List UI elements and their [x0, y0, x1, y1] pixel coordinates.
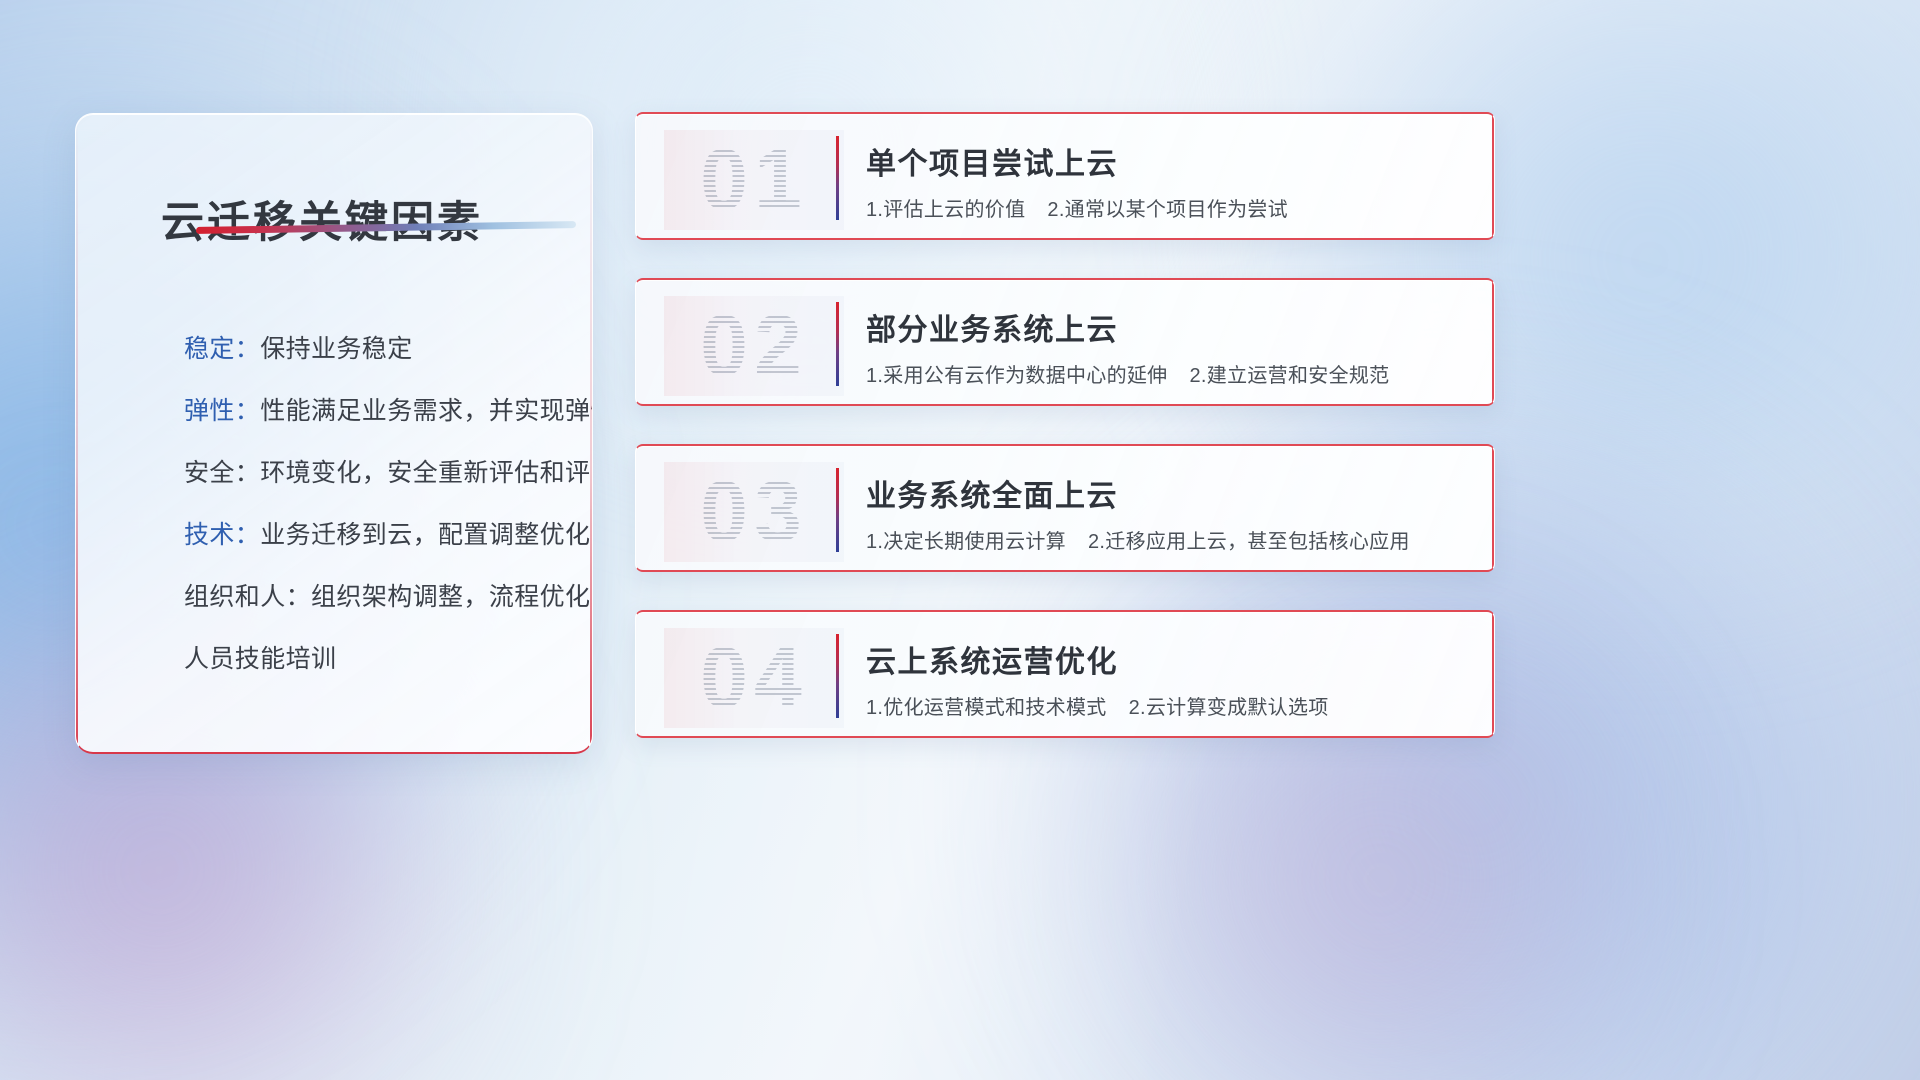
stage-card-list: 01 单个项目尝试上云 1.评估上云的价值2.通常以某个项目作为尝试 02 部分…: [635, 112, 1495, 776]
stage-title: 单个项目尝试上云: [866, 139, 1118, 183]
stage-points: 1.优化运营模式和技术模式2.云计算变成默认选项: [866, 691, 1329, 720]
stage-title: 部分业务系统上云: [866, 305, 1118, 349]
stage-card[interactable]: 03 业务系统全面上云 1.决定长期使用云计算2.迁移应用上云，甚至包括核心应用: [635, 444, 1495, 572]
factor-text: 业务迁移到云，配置调整优化: [260, 521, 590, 549]
stage-card[interactable]: 01 单个项目尝试上云 1.评估上云的价值2.通常以某个项目作为尝试: [635, 112, 1495, 240]
stage-point-1: 1.评估上云的价值: [866, 199, 1025, 221]
stage-point-2: 2.迁移应用上云，甚至包括核心应用: [1088, 531, 1410, 553]
page-title: 云迁移关键因素: [161, 188, 483, 250]
factor-item: 稳定：保持业务稳定: [184, 318, 568, 380]
stage-point-2: 2.建立运营和安全规范: [1189, 365, 1389, 387]
stage-card[interactable]: 04 云上系统运营优化 1.优化运营模式和技术模式2.云计算变成默认选项: [635, 610, 1495, 738]
factor-item-continuation: 人员技能培训: [184, 628, 568, 690]
key-factors-panel: 云迁移关键因素 稳定：保持业务稳定 弹性：性能满足业务需求，并实现弹性 安全：环…: [75, 113, 593, 754]
stage-number-watermark: 02: [664, 296, 844, 396]
stage-title: 业务系统全面上云: [866, 471, 1118, 515]
factor-item: 技术：业务迁移到云，配置调整优化: [184, 504, 568, 566]
stage-title: 云上系统运营优化: [866, 637, 1118, 681]
stage-points: 1.评估上云的价值2.通常以某个项目作为尝试: [866, 193, 1288, 222]
factor-text: 人员技能培训: [184, 645, 336, 673]
stage-point-2: 2.通常以某个项目作为尝试: [1047, 199, 1288, 221]
factor-label: 安全：: [184, 459, 260, 487]
stage-accent-bar: [836, 302, 839, 386]
stage-point-1: 1.决定长期使用云计算: [866, 531, 1066, 553]
factor-label: 稳定：: [184, 335, 260, 363]
stage-accent-bar: [836, 136, 839, 220]
stage-points: 1.采用公有云作为数据中心的延伸2.建立运营和安全规范: [866, 359, 1389, 388]
factor-item: 组织和人：组织架构调整，流程优化，: [184, 566, 568, 628]
factor-label: 弹性：: [184, 397, 260, 425]
factor-text: 组织架构调整，流程优化，: [311, 583, 593, 611]
factor-text: 性能满足业务需求，并实现弹性: [260, 397, 593, 425]
factor-text: 环境变化，安全重新评估和评审: [260, 459, 593, 487]
factor-list: 稳定：保持业务稳定 弹性：性能满足业务需求，并实现弹性 安全：环境变化，安全重新…: [184, 318, 568, 690]
stage-card[interactable]: 02 部分业务系统上云 1.采用公有云作为数据中心的延伸2.建立运营和安全规范: [635, 278, 1495, 406]
stage-accent-bar: [836, 634, 839, 718]
factor-text: 保持业务稳定: [260, 335, 412, 363]
stage-point-1: 1.优化运营模式和技术模式: [866, 697, 1107, 719]
factor-label: 组织和人：: [184, 583, 311, 611]
factor-item: 弹性：性能满足业务需求，并实现弹性: [184, 380, 568, 442]
factor-label: 技术：: [184, 521, 260, 549]
stage-number-watermark: 03: [664, 462, 844, 562]
stage-number-watermark: 01: [664, 130, 844, 230]
stage-accent-bar: [836, 468, 839, 552]
stage-point-2: 2.云计算变成默认选项: [1129, 697, 1329, 719]
stage-number-watermark: 04: [664, 628, 844, 728]
stage-point-1: 1.采用公有云作为数据中心的延伸: [866, 365, 1167, 387]
stage-points: 1.决定长期使用云计算2.迁移应用上云，甚至包括核心应用: [866, 525, 1410, 554]
factor-item: 安全：环境变化，安全重新评估和评审: [184, 442, 568, 504]
